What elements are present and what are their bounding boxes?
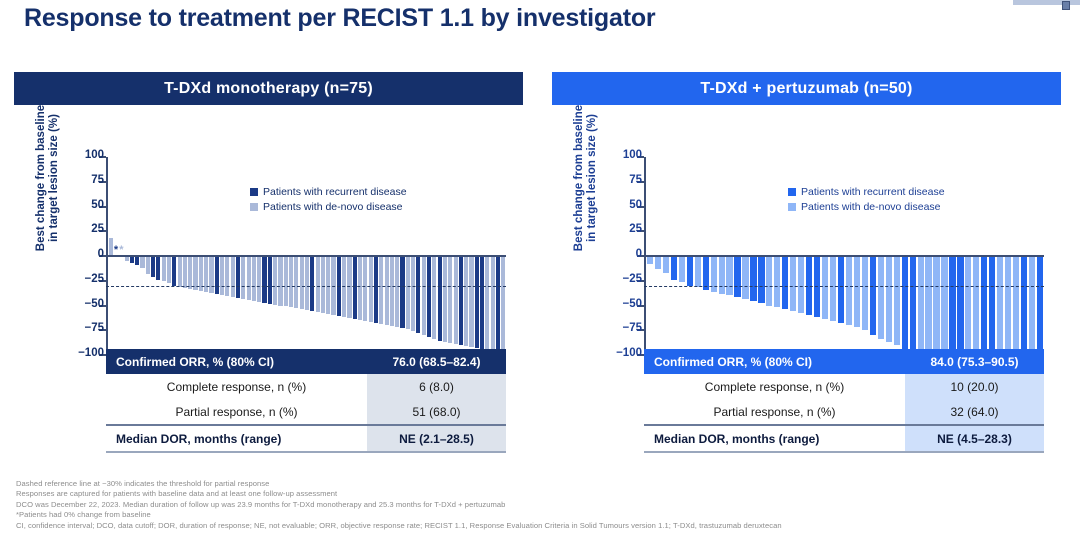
waterfall-bar [838,256,844,323]
waterfall-bar [241,256,245,299]
plot-area: 1007550250−25−50−75−100 ** [106,157,506,355]
footnotes: Dashed reference line at −30% indicates … [16,479,1066,531]
waterfall-bar [814,256,820,317]
waterfall-bar [734,256,740,297]
waterfall-bar [997,256,1003,355]
table-row-value: 10 (20.0) [905,374,1044,399]
waterfall-bar [1029,256,1035,355]
waterfall-bar [933,256,939,355]
waterfall-bar [918,256,924,355]
y-tick-label: 100 [596,149,642,161]
waterfall-chart-monotherapy: Best change from baseline in target lesi… [14,105,523,335]
table-row-label: Median DOR, months (range) [644,425,905,452]
waterfall-bar [981,256,987,355]
waterfall-bar [395,256,399,327]
waterfall-bar [215,256,219,294]
waterfall-bar [870,256,876,335]
waterfall-bar [406,256,410,329]
waterfall-bar [464,256,468,346]
waterfall-bar [454,256,458,344]
waterfall-bar [790,256,796,311]
waterfall-bar [305,256,309,310]
waterfall-bar [278,256,282,306]
waterfall-bar [910,256,916,355]
waterfall-bar [485,256,489,350]
waterfall-bar [130,256,134,263]
waterfall-bar [140,256,144,268]
table-row-label: Confirmed ORR, % (80% CI) [106,349,367,374]
waterfall-bar [358,256,362,320]
zero-line [644,255,1044,257]
top-marker-icon [1062,1,1070,10]
table-row: Median DOR, months (range)NE (2.1–28.5) [106,425,506,452]
waterfall-bar [663,256,669,273]
waterfall-bar [719,256,725,294]
waterfall-bar [188,256,192,289]
table-body: Confirmed ORR, % (80% CI)76.0 (68.5–82.4… [106,349,506,452]
table-row: Partial response, n (%)51 (68.0) [106,399,506,425]
waterfall-bar [766,256,772,306]
y-tick-label: 0 [58,248,104,260]
table-row: Partial response, n (%)32 (64.0) [644,399,1044,425]
footnote-line: *Patients had 0% change from baseline [16,510,1066,520]
waterfall-bar [496,256,500,353]
waterfall-bar [135,256,139,265]
waterfall-bar [193,256,197,290]
y-tick-label: −50 [58,298,104,310]
waterfall-chart-pertuzumab: Best change from baseline in target lesi… [552,105,1061,335]
waterfall-bar [342,256,346,317]
reference-line-minus30 [106,286,506,287]
y-tick-label: −75 [596,322,642,334]
waterfall-bar [1013,256,1019,355]
waterfall-bar [965,256,971,355]
waterfall-bar [109,238,113,256]
footnote-line: CI, confidence interval; DCO, data cutof… [16,521,1066,531]
waterfall-bar [894,256,900,345]
waterfall-bar [830,256,836,321]
waterfall-bar [183,256,187,288]
reference-line-minus30 [644,286,1044,287]
waterfall-bar [941,256,947,355]
panel-header-label: T-DXd monotherapy (n=75) [14,72,523,105]
waterfall-bar [1021,256,1027,355]
waterfall-bar [390,256,394,326]
response-table-monotherapy: Confirmed ORR, % (80% CI)76.0 (68.5–82.4… [106,349,506,453]
waterfall-bar [742,256,748,299]
y-tick-label: 75 [58,174,104,186]
waterfall-bar [957,256,963,355]
waterfall-bar [925,256,931,355]
waterfall-bar [156,256,160,280]
waterfall-bar [432,256,436,339]
zero-line [106,255,506,257]
waterfall-bar [268,256,272,304]
waterfall-bar [448,256,452,343]
waterfall-bar [862,256,868,330]
table-row-label: Partial response, n (%) [644,399,905,425]
waterfall-bar [902,256,908,350]
footnote-line: Responses are captured for patients with… [16,489,1066,499]
waterfall-bar [758,256,764,303]
waterfall-bar [247,256,251,300]
table-row: Median DOR, months (range)NE (4.5–28.3) [644,425,1044,452]
waterfall-bar [475,256,479,348]
waterfall-bar [225,256,229,296]
waterfall-bar [379,256,383,324]
y-tick-label: −75 [58,322,104,334]
table-row: Confirmed ORR, % (80% CI)84.0 (75.3–90.5… [644,349,1044,374]
waterfall-bar [220,256,224,295]
waterfall-bar [878,256,884,339]
waterfall-bar [347,256,351,318]
waterfall-bar [289,256,293,307]
waterfall-bar [726,256,732,295]
waterfall-bar [491,256,495,351]
table-row-label: Median DOR, months (range) [106,425,367,452]
waterfall-bar [273,256,277,305]
waterfall-bar [1037,256,1043,355]
table-row-value: 32 (64.0) [905,399,1044,425]
waterfall-bar [236,256,240,298]
table-row-value: 51 (68.0) [367,399,506,425]
y-tick-label: −50 [596,298,642,310]
waterfall-bar [443,256,447,342]
y-tick-label: 100 [58,149,104,161]
slide-root: Response to treatment per RECIST 1.1 by … [0,0,1080,535]
table-row-value: NE (4.5–28.3) [905,425,1044,452]
waterfall-bar [671,256,677,280]
waterfall-bar [400,256,404,328]
waterfall-bar [459,256,463,345]
waterfall-bar [422,256,426,335]
table-row: Complete response, n (%)10 (20.0) [644,374,1044,399]
waterfall-bar [374,256,378,323]
panel-header-label: T-DXd + pertuzumab (n=50) [552,72,1061,105]
y-tick-label: 0 [596,248,642,260]
waterfall-bar [989,256,995,355]
waterfall-bar [655,256,661,269]
waterfall-bar [846,256,852,325]
waterfall-bar [300,256,304,309]
waterfall-bar [262,256,266,303]
y-tick-label: 25 [58,223,104,235]
table-row-value: 84.0 (75.3–90.5) [905,349,1044,374]
waterfall-bar [252,256,256,301]
waterfall-bar [438,256,442,341]
waterfall-bar [151,256,155,277]
waterfall-bar [363,256,367,321]
waterfall-bar [949,256,955,355]
y-tick-label: 50 [596,199,642,211]
waterfall-bar [782,256,788,309]
waterfall-bar [353,256,357,319]
y-tick-label: 50 [58,199,104,211]
waterfall-bar [284,256,288,306]
waterfall-bar [886,256,892,342]
footnote-line: DCO was December 22, 2023. Median durati… [16,500,1066,510]
table-row-label: Confirmed ORR, % (80% CI) [644,349,905,374]
table-row-label: Complete response, n (%) [106,374,367,399]
waterfall-bar [750,256,756,301]
waterfall-bar [369,256,373,322]
panel-t-dxd-monotherapy: T-DXd monotherapy (n=75) Best change fro… [14,72,523,335]
waterfall-bar [385,256,389,325]
waterfall-bar [480,256,484,349]
table-row-value: 6 (8.0) [367,374,506,399]
y-tick-label: −100 [596,347,642,359]
waterfall-bar [172,256,176,286]
waterfall-bar [178,256,182,287]
waterfall-bar [822,256,828,319]
waterfall-bar [231,256,235,297]
waterfall-bar [427,256,431,337]
response-table-pertuzumab: Confirmed ORR, % (80% CI)84.0 (75.3–90.5… [644,349,1044,453]
waterfall-bar [1005,256,1011,355]
waterfall-bar [162,256,166,281]
waterfall-bar [411,256,415,331]
table-row-value: NE (2.1–28.5) [367,425,506,452]
waterfall-bar [973,256,979,355]
waterfall-bar [294,256,298,308]
waterfall-bar [167,256,171,283]
y-tick-label: −25 [58,273,104,285]
y-tick-label: −100 [58,347,104,359]
y-axis-title-line1: Best change from baseline [35,105,47,251]
waterfall-bar [310,256,314,311]
y-tick-label: 75 [596,174,642,186]
waterfall-bar [679,256,685,282]
table-row: Complete response, n (%)6 (8.0) [106,374,506,399]
waterfall-bar [647,256,653,264]
table-row-value: 76.0 (68.5–82.4) [367,349,506,374]
table-body: Confirmed ORR, % (80% CI)84.0 (75.3–90.5… [644,349,1044,452]
page-title: Response to treatment per RECIST 1.1 by … [24,4,655,33]
waterfall-bar [695,256,701,287]
waterfall-bar [703,256,709,290]
waterfall-bar [416,256,420,333]
y-axis-title-line1: Best change from baseline [573,105,585,251]
panel-t-dxd-pertuzumab: T-DXd + pertuzumab (n=50) Best change fr… [552,72,1061,335]
waterfall-bar [316,256,320,312]
waterfall-bar [501,256,505,355]
waterfall-bar [469,256,473,347]
y-tick-label: −25 [596,273,642,285]
waterfall-bar [146,256,150,274]
plot-area: 1007550250−25−50−75−100 [644,157,1044,355]
waterfall-bar [257,256,261,302]
waterfall-bar [209,256,213,293]
table-row-label: Partial response, n (%) [106,399,367,425]
waterfall-bar [774,256,780,307]
footnote-line: Dashed reference line at −30% indicates … [16,479,1066,489]
y-tick-label: 25 [596,223,642,235]
waterfall-bar [687,256,693,286]
table-row: Confirmed ORR, % (80% CI)76.0 (68.5–82.4… [106,349,506,374]
table-row-label: Complete response, n (%) [644,374,905,399]
waterfall-bar [854,256,860,327]
